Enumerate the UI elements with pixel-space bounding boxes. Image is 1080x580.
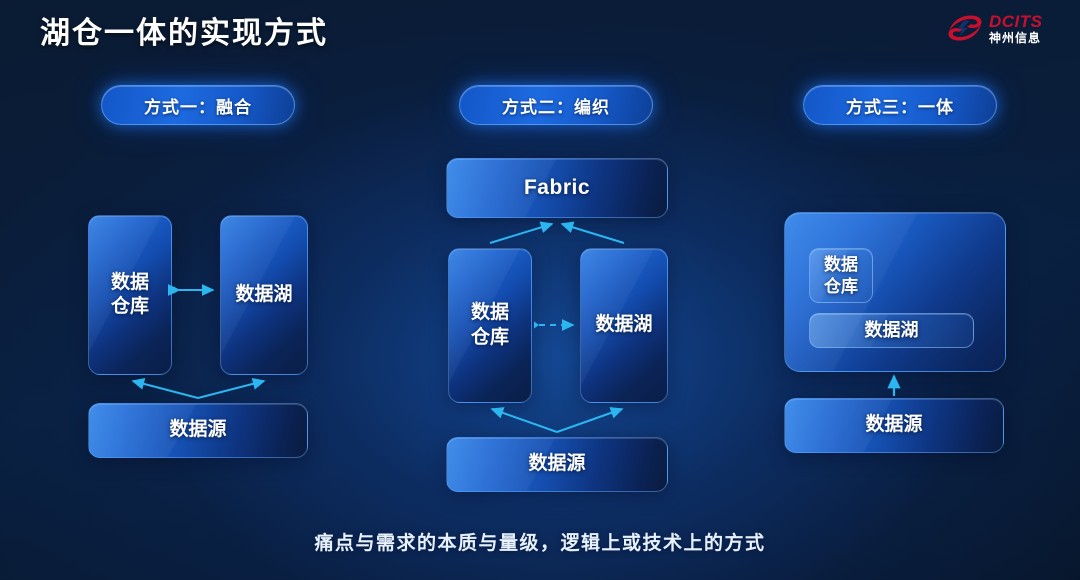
c1-warehouse-label: 数据仓库 bbox=[111, 271, 149, 320]
c1-lake-label: 数据湖 bbox=[235, 283, 292, 307]
c2-source-to-stores-connector bbox=[492, 409, 622, 432]
c1-lake-box[interactable]: 数据湖 bbox=[220, 215, 308, 375]
c2-fabric-box[interactable]: Fabric bbox=[446, 158, 668, 218]
c3-container-box[interactable]: 数据仓库 数据湖 bbox=[784, 212, 1006, 372]
c1-warehouse-lake-connector bbox=[174, 287, 213, 294]
c3-warehouse-label: 数据仓库 bbox=[824, 254, 858, 298]
slide-canvas: 湖仓一体的实现方式 DCITS 神州信息 方式一：融合 方式二：编织 方式三：一… bbox=[0, 0, 1080, 580]
c3-source-box[interactable]: 数据源 bbox=[784, 398, 1004, 453]
c2-stores-to-fabric-connector bbox=[490, 224, 624, 243]
c3-lake-box[interactable]: 数据湖 bbox=[809, 313, 974, 348]
logo-chinese-text: 神州信息 bbox=[989, 32, 1043, 44]
c1-source-box[interactable]: 数据源 bbox=[88, 403, 308, 458]
c2-lake-label: 数据湖 bbox=[595, 313, 652, 337]
c2-source-label: 数据源 bbox=[528, 452, 585, 476]
swoosh-logo-mark-icon bbox=[946, 12, 984, 44]
logo-english-text: DCITS bbox=[989, 13, 1043, 30]
c2-fabric-label: Fabric bbox=[524, 175, 590, 202]
c2-lake-box[interactable]: 数据湖 bbox=[580, 248, 668, 403]
c2-warehouse-label: 数据仓库 bbox=[471, 301, 509, 350]
c1-source-label: 数据源 bbox=[169, 418, 226, 442]
c1-source-to-stores-connector bbox=[133, 381, 264, 398]
c1-warehouse-box[interactable]: 数据仓库 bbox=[88, 215, 172, 375]
pill-method-three[interactable]: 方式三：一体 bbox=[803, 85, 997, 125]
footer-caption: 痛点与需求的本质与量级，逻辑上或技术上的方式 bbox=[0, 528, 1080, 555]
pill-method-one[interactable]: 方式一：融合 bbox=[101, 85, 295, 125]
c3-source-label: 数据源 bbox=[865, 413, 922, 437]
pill-method-two[interactable]: 方式二：编织 bbox=[459, 85, 653, 125]
c3-lake-label: 数据湖 bbox=[865, 319, 919, 342]
c3-warehouse-box[interactable]: 数据仓库 bbox=[809, 248, 873, 303]
page-title: 湖仓一体的实现方式 bbox=[40, 8, 328, 52]
brand-logo: DCITS 神州信息 bbox=[946, 6, 1062, 50]
logo-wordmark: DCITS 神州信息 bbox=[989, 13, 1043, 44]
c2-warehouse-lake-dashed-connector bbox=[534, 322, 573, 329]
c2-warehouse-box[interactable]: 数据仓库 bbox=[448, 248, 532, 403]
c2-source-box[interactable]: 数据源 bbox=[446, 437, 668, 492]
